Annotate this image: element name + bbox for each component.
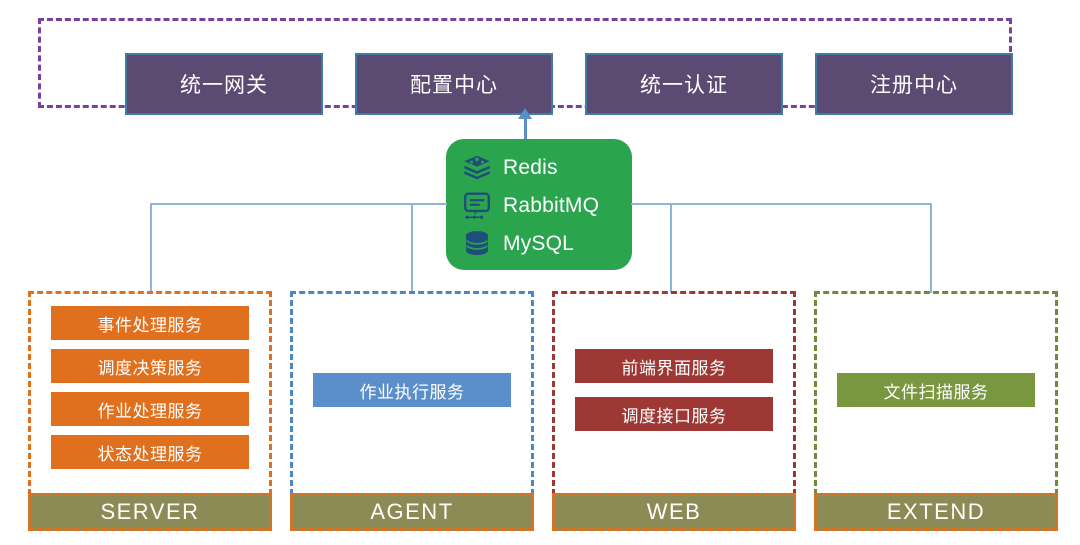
middleware-item-mysql: MySQL (460, 225, 632, 262)
architecture-diagram: 统一网关 配置中心 统一认证 注册中心 (0, 0, 1080, 545)
middleware-label: RabbitMQ (503, 194, 599, 218)
service-box[interactable]: 调度接口服务 (575, 397, 773, 431)
middleware-item-redis: Redis (460, 149, 632, 186)
platform-box-auth[interactable]: 统一认证 (585, 53, 783, 115)
column-extend: 文件扫描服务 EXTEND (814, 291, 1058, 531)
service-label: 调度接口服务 (622, 402, 727, 427)
service-box[interactable]: 调度决策服务 (51, 349, 249, 383)
mysql-database-icon (460, 228, 494, 260)
service-box[interactable]: 作业执行服务 (313, 373, 511, 407)
column-footer-label: AGENT (370, 499, 453, 525)
connector-drop-server (150, 203, 152, 293)
connector-drop-web (670, 203, 672, 293)
arrow-up-shaft (524, 116, 527, 140)
column-agent: 作业执行服务 AGENT (290, 291, 534, 531)
platform-box-label: 注册中心 (870, 69, 958, 99)
column-server: 事件处理服务 调度决策服务 作业处理服务 状态处理服务 SERVER (28, 291, 272, 531)
column-footer-label: SERVER (100, 499, 199, 525)
connector-drop-extend (930, 203, 932, 293)
platform-box-gateway[interactable]: 统一网关 (125, 53, 323, 115)
service-label: 作业处理服务 (98, 397, 203, 422)
middleware-label: Redis (503, 156, 558, 180)
service-box[interactable]: 文件扫描服务 (837, 373, 1035, 407)
column-footer-server: SERVER (28, 493, 272, 531)
service-label: 文件扫描服务 (884, 378, 989, 403)
redis-layers-icon (460, 152, 494, 184)
middleware-label: MySQL (503, 232, 574, 256)
service-box[interactable]: 状态处理服务 (51, 435, 249, 469)
column-footer-label: EXTEND (887, 499, 985, 525)
platform-layer-container: 统一网关 配置中心 统一认证 注册中心 (38, 18, 1012, 108)
service-label: 状态处理服务 (98, 440, 203, 465)
column-footer-agent: AGENT (290, 493, 534, 531)
column-footer-web: WEB (552, 493, 796, 531)
platform-box-registry[interactable]: 注册中心 (815, 53, 1013, 115)
middleware-item-rabbitmq: RabbitMQ (460, 187, 632, 224)
column-web-services: 前端界面服务 调度接口服务 (555, 294, 793, 486)
connector-bus-right (631, 203, 931, 205)
platform-box-label: 统一认证 (640, 69, 728, 99)
service-box[interactable]: 前端界面服务 (575, 349, 773, 383)
service-label: 作业执行服务 (360, 378, 465, 403)
column-server-services: 事件处理服务 调度决策服务 作业处理服务 状态处理服务 (31, 294, 269, 486)
service-box[interactable]: 作业处理服务 (51, 392, 249, 426)
column-web: 前端界面服务 调度接口服务 WEB (552, 291, 796, 531)
middleware-box[interactable]: Redis RabbitMQ (446, 139, 632, 270)
column-agent-services: 作业执行服务 (293, 294, 531, 486)
service-label: 调度决策服务 (98, 354, 203, 379)
connector-bus-left (150, 203, 447, 205)
platform-box-label: 统一网关 (180, 69, 268, 99)
service-label: 事件处理服务 (98, 311, 203, 336)
column-footer-extend: EXTEND (814, 493, 1058, 531)
platform-box-label: 配置中心 (410, 69, 498, 99)
column-footer-label: WEB (647, 499, 702, 525)
connector-drop-agent (411, 203, 413, 293)
column-extend-services: 文件扫描服务 (817, 294, 1055, 486)
platform-box-config[interactable]: 配置中心 (355, 53, 553, 115)
service-label: 前端界面服务 (622, 354, 727, 379)
rabbitmq-message-icon (460, 190, 494, 222)
service-box[interactable]: 事件处理服务 (51, 306, 249, 340)
